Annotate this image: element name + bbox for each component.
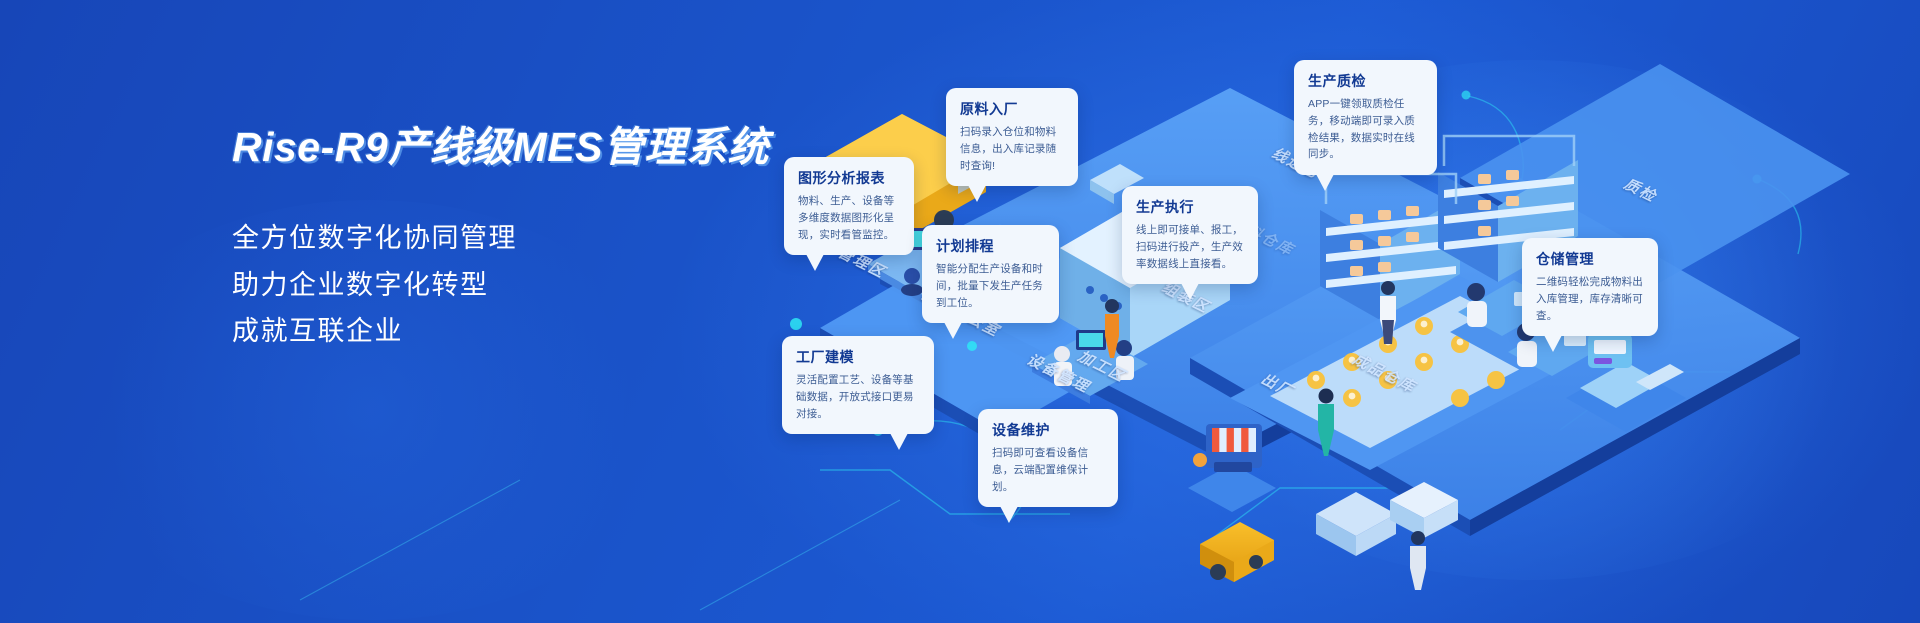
card-body: 智能分配生产设备和时间，批量下发生产任务到工位。 [936,261,1045,311]
card-body: 扫码录入仓位和物料信息，出入库记录随时查询! [960,124,1064,174]
card-body: 线上即可接单、报工，扫码进行投产，生产效率数据线上直接看。 [1136,222,1244,272]
callout-card-warehouse-management[interactable]: 仓储管理 二维码轻松完成物料出入库管理，库存清晰可查。 [1522,238,1658,336]
card-title: 图形分析报表 [798,168,900,188]
card-title: 设备维护 [992,420,1104,440]
callout-card-chart-report[interactable]: 图形分析报表 物料、生产、设备等多维度数据图形化呈现，实时看管监控。 [784,157,914,255]
callout-card-material-intake[interactable]: 原料入厂 扫码录入仓位和物料信息，出入库记录随时查询! [946,88,1078,186]
card-title: 计划排程 [936,236,1045,256]
callout-card-production-execution[interactable]: 生产执行 线上即可接单、报工，扫码进行投产，生产效率数据线上直接看。 [1122,186,1258,284]
callout-card-planning-scheduling[interactable]: 计划排程 智能分配生产设备和时间，批量下发生产任务到工位。 [922,225,1059,323]
callout-card-factory-modeling[interactable]: 工厂建模 灵活配置工艺、设备等基础数据，开放式接口更易对接。 [782,336,934,434]
card-body: 二维码轻松完成物料出入库管理，库存清晰可查。 [1536,274,1644,324]
callout-card-production-quality[interactable]: 生产质检 APP一键领取质检任务，移动端即可录入质检结果，数据实时在线同步。 [1294,60,1437,175]
card-body: 扫码即可查看设备信息，云端配置维保计划。 [992,445,1104,495]
card-title: 生产执行 [1136,197,1244,217]
card-body: 物料、生产、设备等多维度数据图形化呈现，实时看管监控。 [798,193,900,243]
card-title: 工厂建模 [796,347,920,367]
forklift-icon [1200,522,1274,582]
card-body: APP一键领取质检任务，移动端即可录入质检结果，数据实时在线同步。 [1308,96,1423,163]
finished-goods-boxes [1316,482,1458,556]
callout-card-equipment-maintenance[interactable]: 设备维护 扫码即可查看设备信息，云端配置维保计划。 [978,409,1118,507]
card-body: 灵活配置工艺、设备等基础数据，开放式接口更易对接。 [796,372,920,422]
card-title: 仓储管理 [1536,249,1644,269]
card-title: 原料入厂 [960,99,1064,119]
card-title: 生产质检 [1308,71,1423,91]
mes-hero-banner: Rise-R9产线级MES管理系统 全方位数字化协同管理 助力企业数字化转型 成… [0,0,1920,623]
